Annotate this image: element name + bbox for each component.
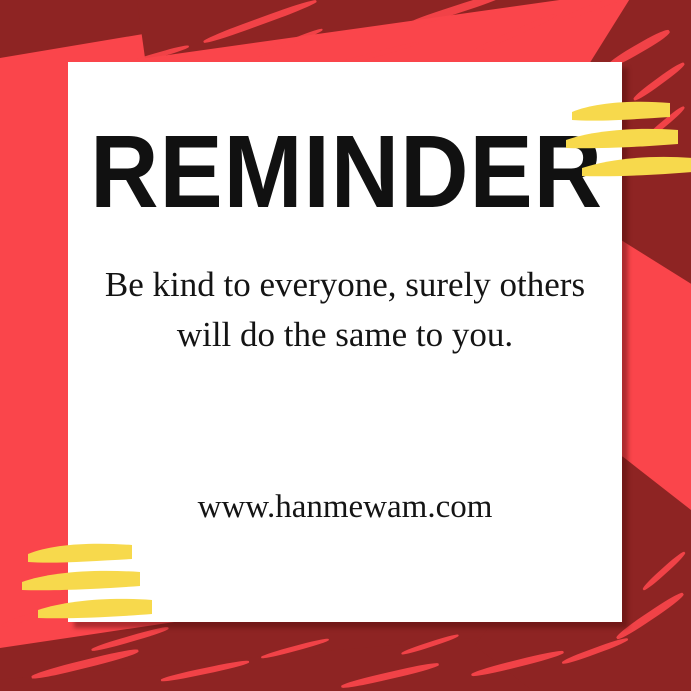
page-title: REMINDER (90, 120, 600, 223)
quote-poster: REMINDER Be kind to everyone, surely oth… (0, 0, 691, 691)
quote-text: Be kind to everyone, surely others will … (104, 260, 586, 359)
yellow-brush-accent-top-right (566, 86, 691, 196)
brush-texture-streak (473, 12, 558, 54)
website-url: www.hanmewam.com (68, 491, 622, 524)
yellow-brush-accent-bottom-left (22, 528, 202, 638)
